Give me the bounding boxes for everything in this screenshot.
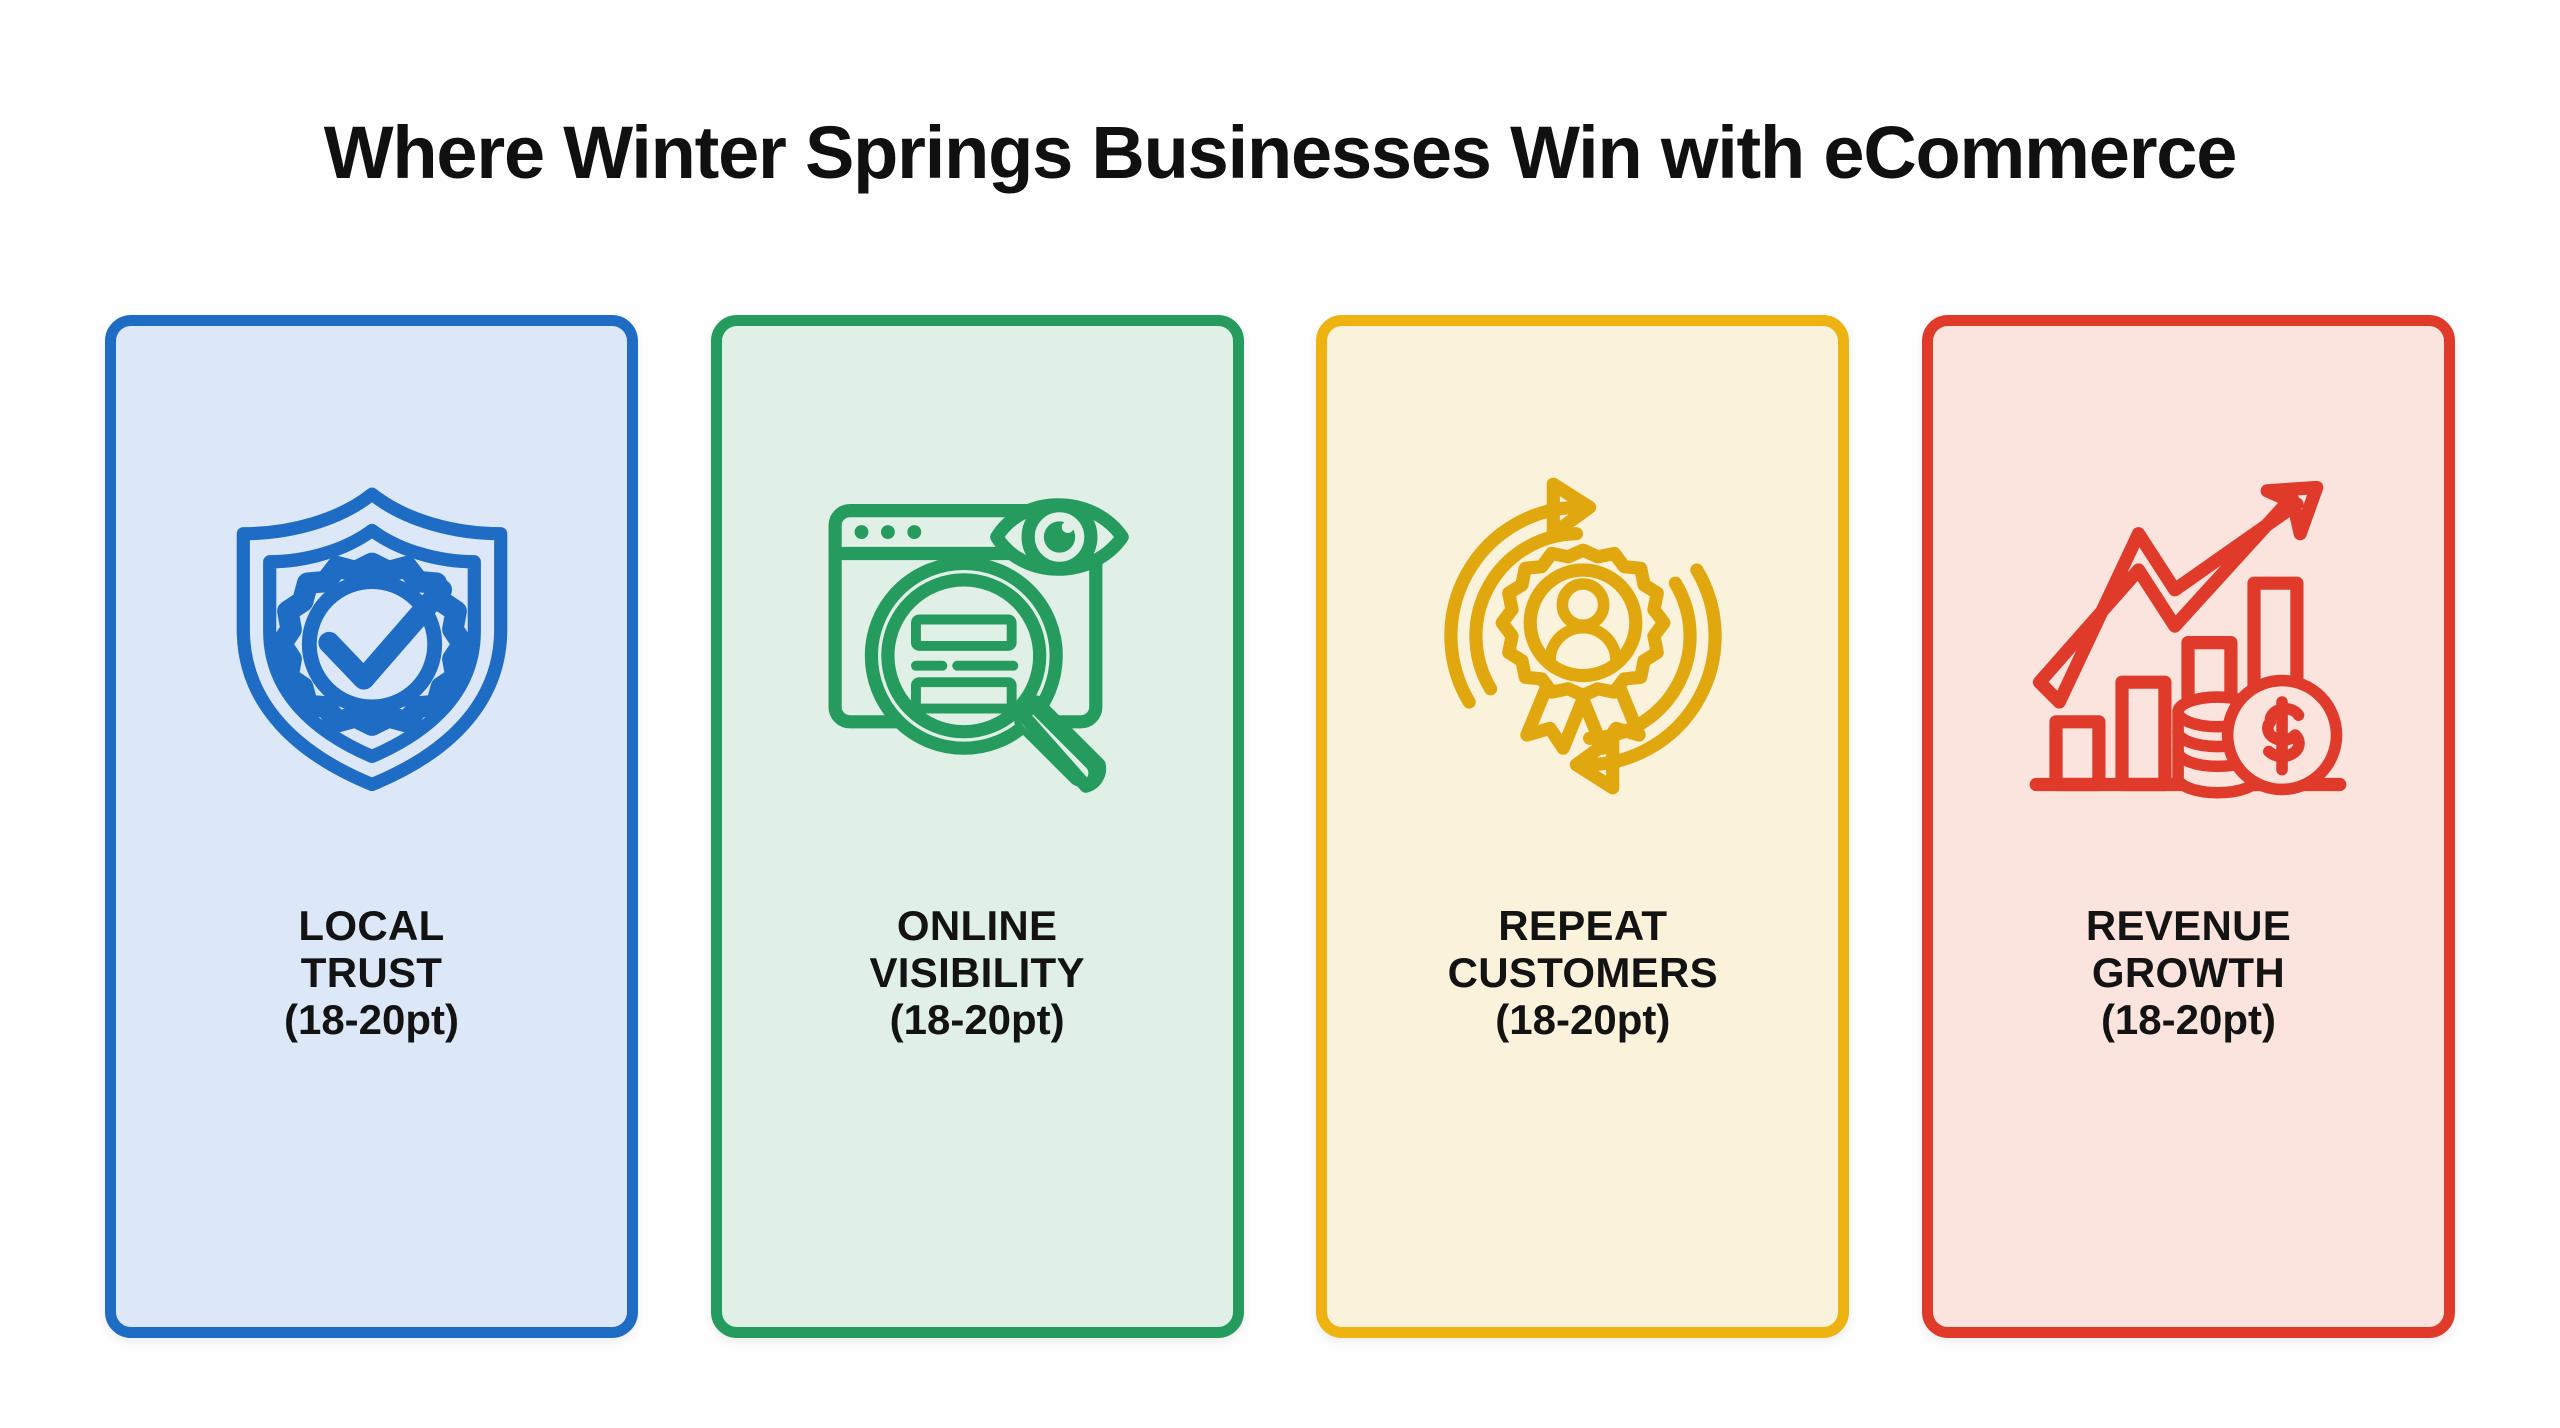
card-label-line2: CUSTOMERS bbox=[1337, 949, 1828, 996]
card-label-line2: VISIBILITY bbox=[732, 949, 1223, 996]
benefit-card-local-trust[interactable]: LOCAL TRUST (18-20pt) bbox=[105, 315, 638, 1338]
card-label: LOCAL TRUST (18-20pt) bbox=[116, 902, 627, 1043]
card-label-line1: REVENUE bbox=[1943, 902, 2434, 949]
loyalty-cycle-award-icon bbox=[1327, 326, 1838, 926]
card-label-line1: REPEAT bbox=[1337, 902, 1828, 949]
card-label: REPEAT CUSTOMERS (18-20pt) bbox=[1327, 902, 1838, 1043]
card-size-note: (18-20pt) bbox=[1337, 996, 1828, 1043]
card-size-note: (18-20pt) bbox=[1943, 996, 2434, 1043]
benefit-card-repeat-customers[interactable]: REPEAT CUSTOMERS (18-20pt) bbox=[1316, 315, 1849, 1338]
browser-search-eye-icon bbox=[722, 326, 1233, 926]
card-size-note: (18-20pt) bbox=[126, 996, 617, 1043]
card-label: ONLINE VISIBILITY (18-20pt) bbox=[722, 902, 1233, 1043]
card-label-line1: LOCAL bbox=[126, 902, 617, 949]
benefit-card-online-visibility[interactable]: ONLINE VISIBILITY (18-20pt) bbox=[711, 315, 1244, 1338]
benefit-card-revenue-growth[interactable]: REVENUE GROWTH (18-20pt) bbox=[1922, 315, 2455, 1338]
shield-check-badge-icon bbox=[116, 326, 627, 926]
card-label: REVENUE GROWTH (18-20pt) bbox=[1933, 902, 2444, 1043]
infographic-canvas: Where Winter Springs Businesses Win with… bbox=[0, 0, 2560, 1428]
card-label-line1: ONLINE bbox=[732, 902, 1223, 949]
card-size-note: (18-20pt) bbox=[732, 996, 1223, 1043]
card-label-line2: GROWTH bbox=[1943, 949, 2434, 996]
growth-chart-money-icon bbox=[1933, 326, 2444, 926]
benefit-cards-row: LOCAL TRUST (18-20pt) bbox=[105, 315, 2455, 1338]
page-title: Where Winter Springs Businesses Win with… bbox=[0, 110, 2560, 195]
card-label-line2: TRUST bbox=[126, 949, 617, 996]
